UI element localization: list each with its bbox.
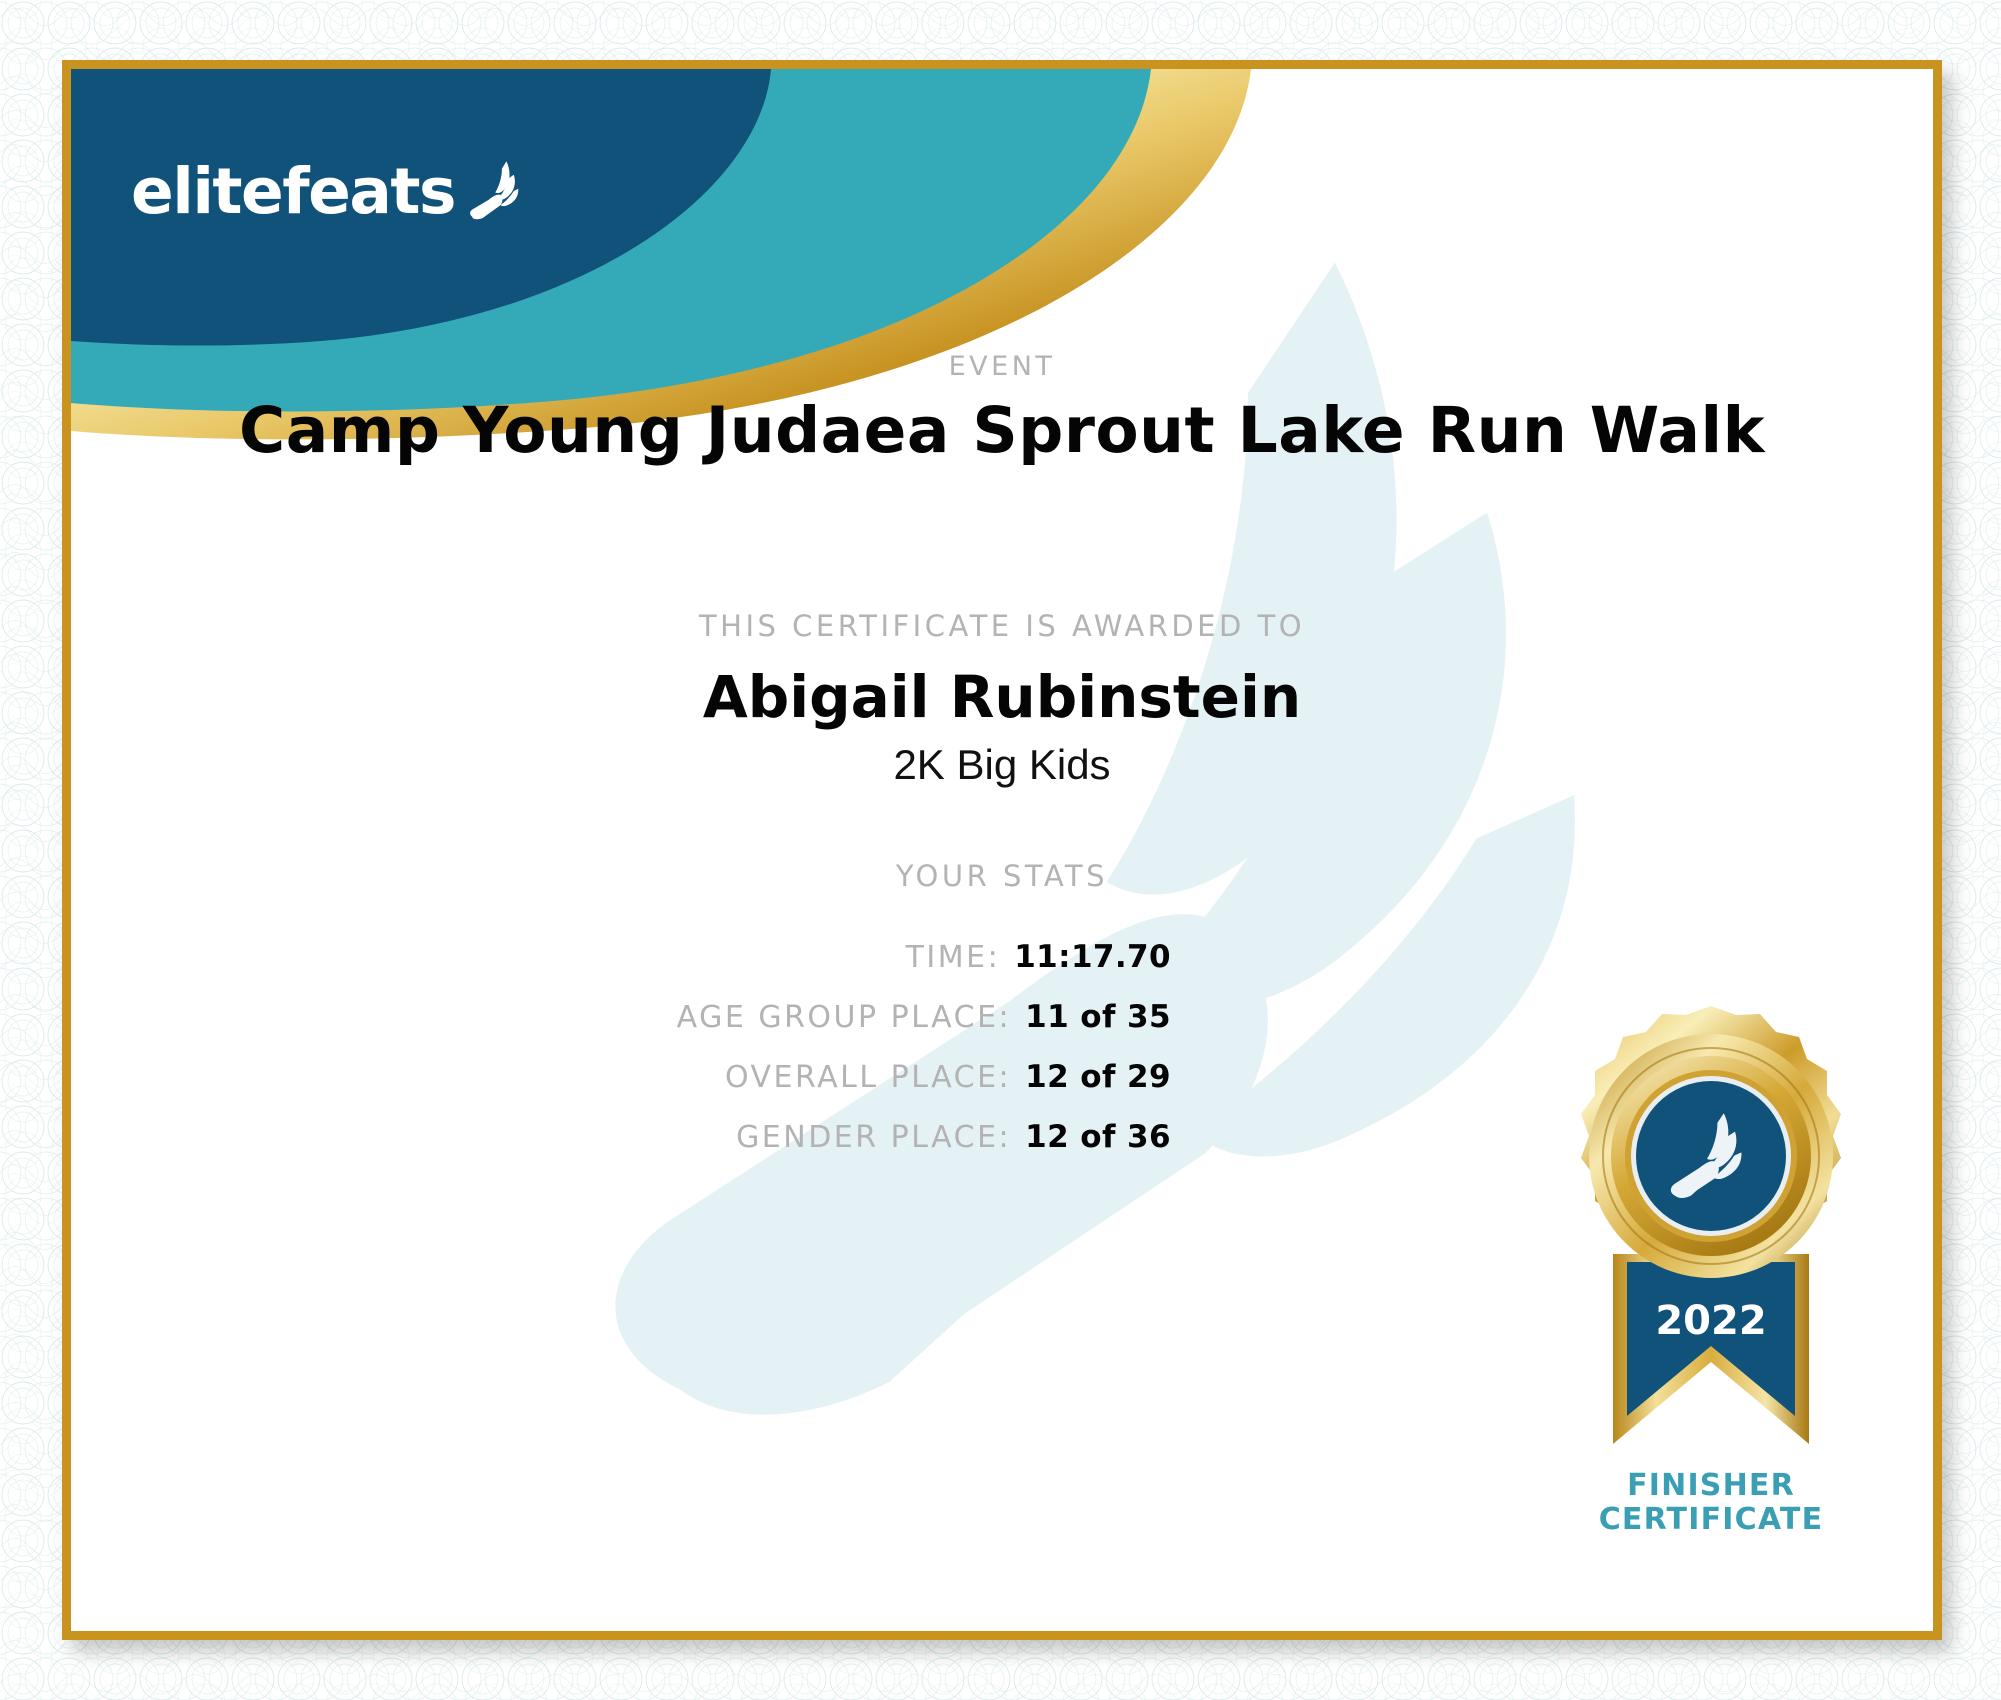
- stats-list: TIME: 11:17.70 AGE GROUP PLACE: 11 of 35…: [71, 939, 1171, 1179]
- winged-foot-icon: [459, 154, 533, 228]
- stat-label: AGE GROUP PLACE:: [677, 1000, 1012, 1035]
- stat-row-time: TIME: 11:17.70: [71, 939, 1171, 975]
- seal-caption-line2: CERTIFICATE: [1541, 1503, 1881, 1537]
- stat-value: 12 of 36: [1025, 1119, 1171, 1155]
- stat-row-overall-place: OVERALL PLACE: 12 of 29: [71, 1059, 1171, 1095]
- seal-caption-line1: FINISHER: [1541, 1469, 1881, 1503]
- stats-heading: YOUR STATS: [71, 859, 1933, 893]
- stat-value: 12 of 29: [1025, 1059, 1171, 1095]
- seal-medal: [1581, 1006, 1841, 1278]
- seal-caption: FINISHER CERTIFICATE: [1541, 1469, 1881, 1537]
- stat-row-gender-place: GENDER PLACE: 12 of 36: [71, 1119, 1171, 1155]
- stat-label: TIME:: [906, 940, 1001, 975]
- stat-label: OVERALL PLACE:: [725, 1060, 1011, 1095]
- brand-logo: elitefeats: [131, 154, 533, 228]
- division-name: 2K Big Kids: [71, 741, 1933, 789]
- stat-value: 11:17.70: [1014, 939, 1171, 975]
- seal-year: 2022: [1655, 1298, 1766, 1344]
- recipient-name: Abigail Rubinstein: [71, 663, 1933, 731]
- brand-wordmark: elitefeats: [131, 155, 455, 228]
- stat-label: GENDER PLACE:: [736, 1120, 1011, 1155]
- event-label: EVENT: [71, 351, 1933, 382]
- seal-ribbon: 2022: [1613, 1254, 1809, 1444]
- stat-value: 11 of 35: [1025, 999, 1171, 1035]
- stat-row-age-group-place: AGE GROUP PLACE: 11 of 35: [71, 999, 1171, 1035]
- awarded-to-label: THIS CERTIFICATE IS AWARDED TO: [71, 609, 1933, 643]
- event-title: Camp Young Judaea Sprout Lake Run Walk: [71, 394, 1933, 467]
- certificate-card: elitefeats EVEN: [62, 60, 1942, 1640]
